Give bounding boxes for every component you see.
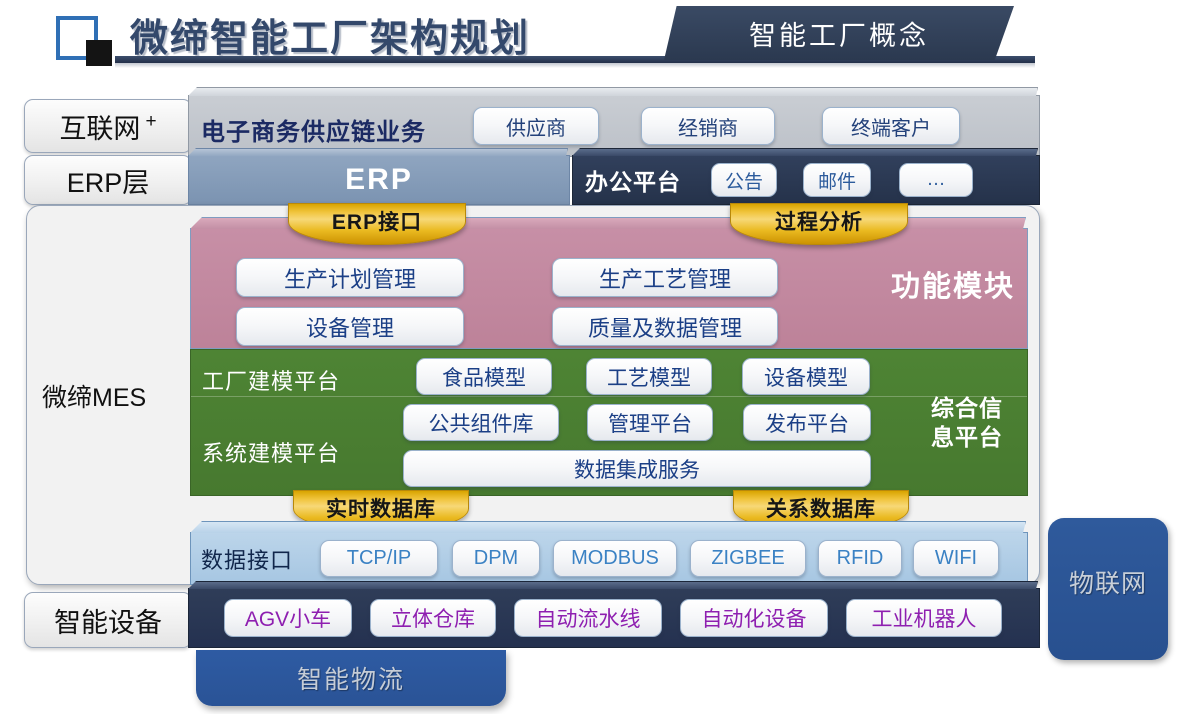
equipment-item-industrial-robot-label: 工业机器人 [872, 603, 977, 633]
office-item-more[interactable]: … [899, 163, 973, 197]
internet-band-title: 电子商务供应链业务 [201, 112, 426, 147]
layer-label-erp-text: ERP层 [67, 161, 150, 200]
equipment-item-industrial-robot[interactable]: 工业机器人 [846, 599, 1002, 637]
layer-label-smart-equipment: 智能设备 [24, 592, 192, 648]
equipment-item-agv-label: AGV小车 [245, 603, 331, 633]
platform-item-food-model-label: 食品模型 [442, 362, 526, 392]
cylinder-relational-database-label: 关系数据库 [766, 493, 876, 523]
protocol-rfid[interactable]: RFID [818, 540, 902, 577]
platform-item-process-model[interactable]: 工艺模型 [586, 358, 712, 395]
function-item-production-plan-label: 生产计划管理 [284, 262, 416, 294]
equipment-item-automation[interactable]: 自动化设备 [680, 599, 828, 637]
layer-label-internet-plus: + [145, 111, 156, 133]
platform-item-publish-platform-label: 发布平台 [765, 408, 849, 438]
function-item-production-process[interactable]: 生产工艺管理 [552, 258, 778, 297]
platform-item-publish-platform[interactable]: 发布平台 [743, 404, 871, 441]
smart-logistics-label: 智能物流 [297, 660, 405, 696]
layer-label-erp: ERP层 [24, 155, 192, 205]
header-banner-label: 智能工厂概念 [749, 14, 929, 53]
internet-item-end-customer-label: 终端客户 [851, 112, 931, 141]
platform-row2-label: 系统建模平台 [202, 436, 340, 468]
function-item-quality-data-mgmt-label: 质量及数据管理 [588, 311, 742, 343]
protocol-zigbee[interactable]: ZIGBEE [690, 540, 806, 577]
erp-block: ERP [188, 155, 570, 205]
page-header: 微缔智能工厂架构规划 智能工厂概念 [0, 0, 1195, 88]
platform-row1-label: 工厂建模平台 [202, 364, 340, 396]
platform-item-management-platform[interactable]: 管理平台 [587, 404, 713, 441]
office-item-announcement[interactable]: 公告 [711, 163, 777, 197]
equipment-item-stereo-warehouse-label: 立体仓库 [391, 603, 475, 633]
cylinder-realtime-database-label: 实时数据库 [326, 493, 436, 523]
protocol-dpm[interactable]: DPM [452, 540, 540, 577]
platform-item-data-integration-service-label: 数据集成服务 [574, 454, 700, 484]
diagram-canvas: 微缔智能工厂架构规划 智能工厂概念 互联网 + 电子商务供应链业务 供应商 经销… [0, 0, 1195, 714]
platform-divider [191, 396, 1027, 397]
protocol-wifi[interactable]: WIFI [913, 540, 999, 577]
data-interface-label: 数据接口 [201, 543, 293, 575]
protocol-dpm-label: DPM [474, 547, 518, 570]
office-item-more-label: … [927, 169, 946, 191]
internet-item-supplier[interactable]: 供应商 [473, 107, 599, 145]
internet-item-end-customer[interactable]: 终端客户 [822, 107, 960, 145]
erp-block-label: ERP [345, 163, 413, 197]
function-module-right-label: 功能模块 [891, 263, 1015, 305]
office-platform-label: 办公平台 [585, 163, 681, 197]
protocol-zigbee-label: ZIGBEE [711, 547, 784, 570]
office-item-mail[interactable]: 邮件 [803, 163, 871, 197]
function-item-quality-data-mgmt[interactable]: 质量及数据管理 [552, 307, 778, 346]
platform-right-label: 综合信 息平台 [915, 394, 1019, 452]
function-item-production-plan[interactable]: 生产计划管理 [236, 258, 464, 297]
function-item-equipment-mgmt[interactable]: 设备管理 [236, 307, 464, 346]
platform-item-process-model-label: 工艺模型 [607, 362, 691, 392]
internet-item-supplier-label: 供应商 [506, 112, 566, 141]
internet-item-dealer[interactable]: 经销商 [641, 107, 775, 145]
mes-label: 微缔MES [42, 378, 146, 414]
platform-right-label-line1: 综合信 [915, 394, 1019, 423]
layer-label-internet: 互联网 + [24, 99, 192, 153]
platform-item-management-platform-label: 管理平台 [608, 408, 692, 438]
page-title: 微缔智能工厂架构规划 [130, 8, 650, 60]
function-item-production-process-label: 生产工艺管理 [599, 262, 731, 294]
equipment-item-auto-line-label: 自动流水线 [536, 603, 641, 633]
smart-logistics-block: 智能物流 [196, 650, 506, 706]
header-banner: 智能工厂概念 [664, 6, 1014, 60]
cylinder-process-analysis-label: 过程分析 [775, 206, 863, 236]
equipment-item-auto-line[interactable]: 自动流水线 [514, 599, 662, 637]
layer-label-smart-equipment-text: 智能设备 [54, 601, 162, 640]
protocol-rfid-label: RFID [837, 547, 884, 570]
platform-item-equipment-model[interactable]: 设备模型 [742, 358, 870, 395]
protocol-wifi-label: WIFI [935, 547, 977, 570]
equipment-item-automation-label: 自动化设备 [702, 603, 807, 633]
office-item-mail-label: 邮件 [818, 167, 856, 194]
iot-block: 物联网 [1048, 518, 1168, 660]
platform-item-equipment-model-label: 设备模型 [764, 362, 848, 392]
internet-item-dealer-label: 经销商 [678, 112, 738, 141]
cylinder-erp-interface-label: ERP接口 [332, 206, 422, 236]
platform-item-food-model[interactable]: 食品模型 [416, 358, 552, 395]
layer-label-internet-text: 互联网 [59, 107, 140, 146]
protocol-tcpip-label: TCP/IP [347, 547, 411, 570]
equipment-item-stereo-warehouse[interactable]: 立体仓库 [370, 599, 496, 637]
equipment-item-agv[interactable]: AGV小车 [224, 599, 352, 637]
platform-item-data-integration-service[interactable]: 数据集成服务 [403, 450, 871, 487]
office-item-announcement-label: 公告 [725, 167, 763, 194]
protocol-tcpip[interactable]: TCP/IP [320, 540, 438, 577]
platform-item-common-component-lib[interactable]: 公共组件库 [403, 404, 559, 441]
function-item-equipment-mgmt-label: 设备管理 [306, 311, 394, 343]
platform-right-label-line2: 息平台 [915, 423, 1019, 452]
protocol-modbus-label: MODBUS [571, 547, 659, 570]
square-logo-accent-icon [86, 40, 112, 66]
platform-item-common-component-lib-label: 公共组件库 [429, 408, 534, 438]
protocol-modbus[interactable]: MODBUS [553, 540, 677, 577]
iot-label: 物联网 [1056, 564, 1160, 600]
